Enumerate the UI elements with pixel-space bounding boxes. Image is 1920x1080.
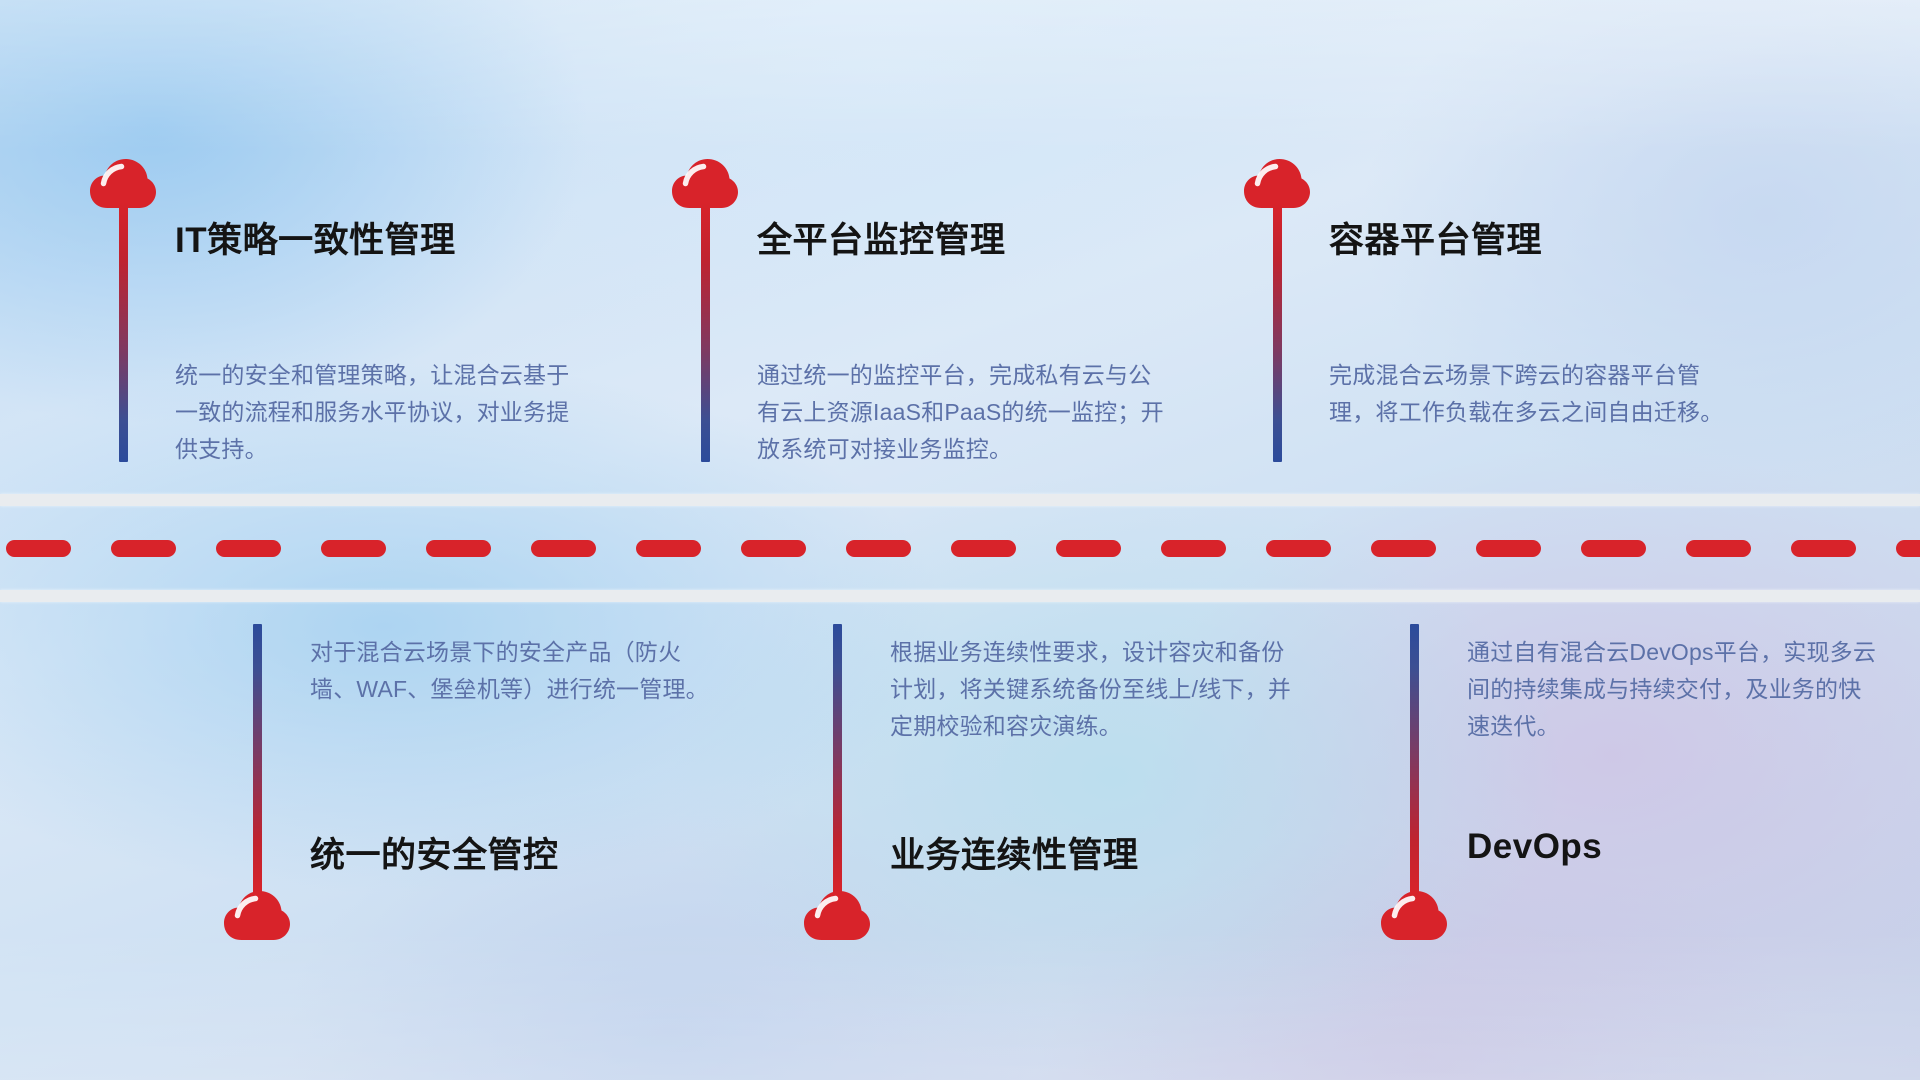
stem-connector (701, 202, 710, 462)
road-dash-segment (1056, 540, 1121, 557)
item-title: 统一的安全管控 (310, 827, 559, 878)
road-edge-bottom (0, 590, 1920, 602)
cloud-icon (224, 890, 290, 942)
road-dash-segment (1791, 540, 1856, 557)
item-description: 完成混合云场景下跨云的容器平台管理，将工作负载在多云之间自由迁移。 (1329, 357, 1744, 431)
road-dash-segment (1581, 540, 1646, 557)
road-dash-segment (1371, 540, 1436, 557)
stem-connector (253, 624, 262, 894)
road-dash-segment (1896, 540, 1920, 557)
item-description: 统一的安全和管理策略，让混合云基于一致的流程和服务水平协议，对业务提供支持。 (175, 357, 590, 468)
item-title: DevOps (1467, 827, 1602, 867)
item-title: IT策略一致性管理 (175, 212, 456, 263)
road-dash-segment (1266, 540, 1331, 557)
item-description: 通过自有混合云DevOps平台，实现多云间的持续集成与持续交付，及业务的快速迭代… (1467, 634, 1882, 745)
stem-connector (1273, 202, 1282, 462)
item-description: 对于混合云场景下的安全产品（防火墙、WAF、堡垒机等）进行统一管理。 (310, 634, 725, 708)
stem-connector (119, 202, 128, 462)
road-edge-top (0, 494, 1920, 506)
item-description: 通过统一的监控平台，完成私有云与公有云上资源IaaS和PaaS的统一监控；开放系… (757, 357, 1172, 468)
road-dash-segment (216, 540, 281, 557)
road-dash-segment (636, 540, 701, 557)
cloud-icon (804, 890, 870, 942)
road-dash-segment (951, 540, 1016, 557)
road-dash-segment (6, 540, 71, 557)
road-dash-segment (1476, 540, 1541, 557)
road-dash-segment (846, 540, 911, 557)
stem-connector (1410, 624, 1419, 894)
road-dash-segment (1686, 540, 1751, 557)
road-dash-segment (321, 540, 386, 557)
cloud-icon (1381, 890, 1447, 942)
stem-connector (833, 624, 842, 894)
item-description: 根据业务连续性要求，设计容灾和备份计划，将关键系统备份至线上/线下，并定期校验和… (890, 634, 1305, 745)
road-dash-segment (1161, 540, 1226, 557)
infographic-canvas: IT策略一致性管理 统一的安全和管理策略，让混合云基于一致的流程和服务水平协议，… (0, 0, 1920, 1080)
road-dash-segment (426, 540, 491, 557)
item-title: 业务连续性管理 (890, 827, 1139, 878)
road-dashed-centerline (0, 540, 1920, 557)
road-dash-segment (531, 540, 596, 557)
road-dash-segment (741, 540, 806, 557)
item-title: 容器平台管理 (1329, 212, 1542, 263)
road-dash-segment (111, 540, 176, 557)
item-title: 全平台监控管理 (757, 212, 1006, 263)
